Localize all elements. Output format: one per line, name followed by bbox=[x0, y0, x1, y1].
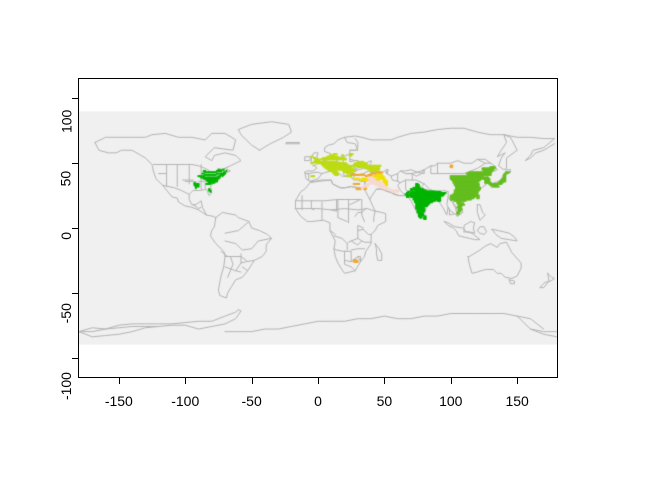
x-tick bbox=[119, 378, 120, 384]
y-tick-label-wrap: 0 bbox=[0, 221, 66, 235]
y-tick bbox=[72, 358, 78, 359]
y-tick-label-wrap: 50 bbox=[0, 156, 66, 170]
y-tick-label-wrap: -50 bbox=[0, 286, 66, 300]
y-tick-label: -50 bbox=[59, 303, 73, 323]
y-tick-label-wrap: 100 bbox=[0, 91, 66, 105]
y-tick bbox=[72, 228, 78, 229]
x-tick bbox=[252, 378, 253, 384]
y-tick bbox=[72, 98, 78, 99]
x-tick-label: 150 bbox=[505, 394, 528, 408]
y-tick-label: 100 bbox=[59, 110, 73, 133]
x-tick bbox=[451, 378, 452, 384]
y-tick bbox=[72, 163, 78, 164]
x-tick-label: 50 bbox=[377, 394, 393, 408]
y-tick-label: 0 bbox=[59, 232, 73, 240]
x-tick bbox=[384, 378, 385, 384]
map-plot-panel[interactable] bbox=[78, 78, 558, 378]
y-tick-label-wrap: -100 bbox=[0, 351, 66, 365]
figure-root: -150-100-50050100150100500-50-100 bbox=[0, 0, 672, 480]
x-tick-label: -50 bbox=[241, 394, 261, 408]
x-tick-label: -100 bbox=[171, 394, 199, 408]
x-tick-label: 0 bbox=[314, 394, 322, 408]
x-tick bbox=[517, 378, 518, 384]
y-tick-label: -100 bbox=[59, 372, 73, 400]
y-tick bbox=[72, 293, 78, 294]
x-tick-label: -150 bbox=[105, 394, 133, 408]
world-map-canvas bbox=[79, 79, 557, 377]
y-tick-label: 50 bbox=[59, 171, 73, 187]
x-tick bbox=[318, 378, 319, 384]
x-tick-label: 100 bbox=[439, 394, 462, 408]
x-tick bbox=[185, 378, 186, 384]
